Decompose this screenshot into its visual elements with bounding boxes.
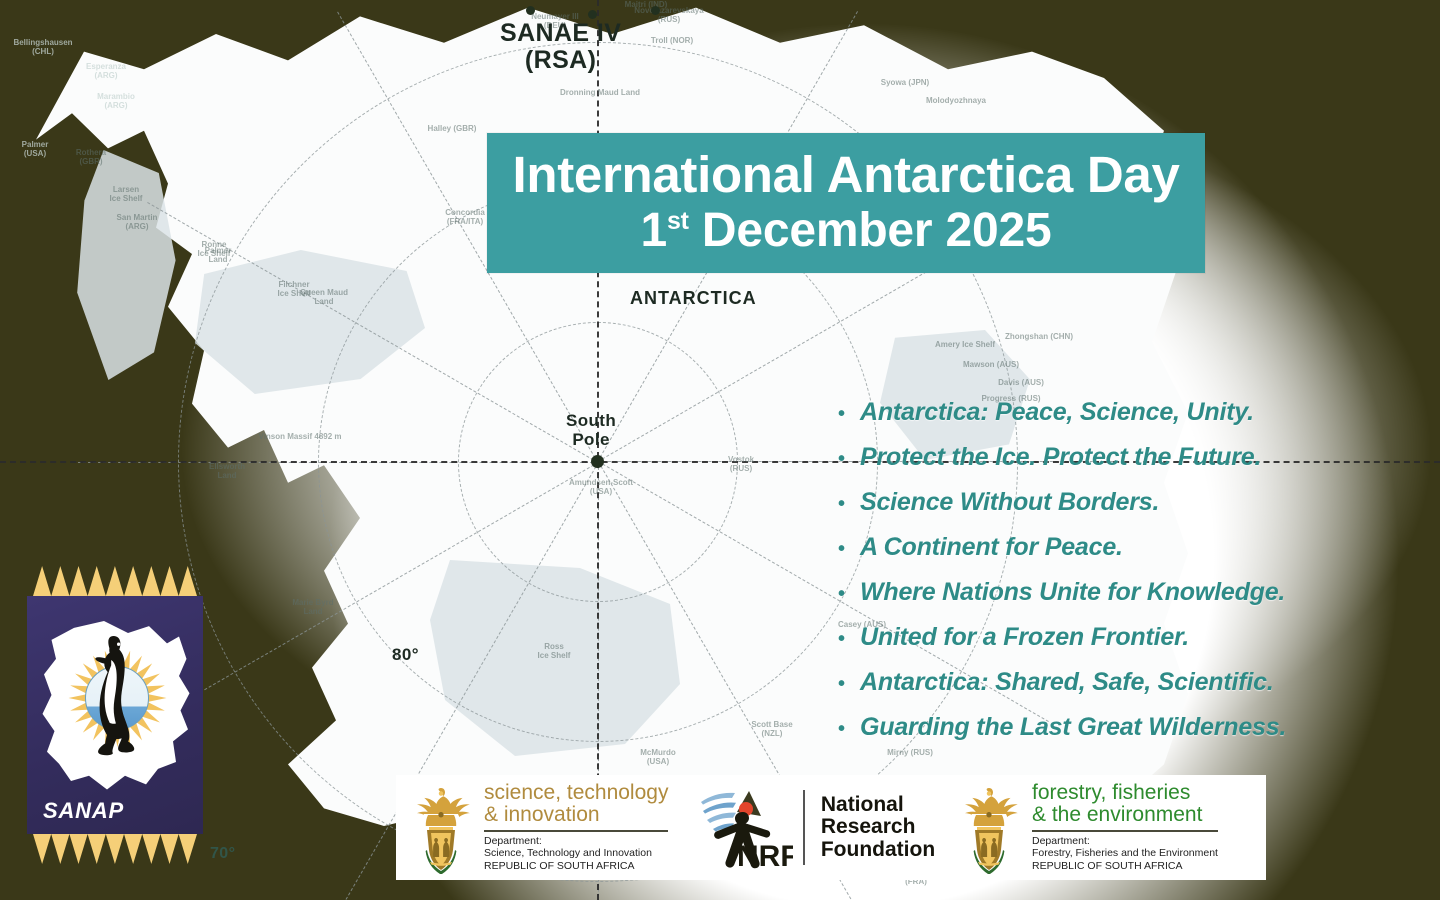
nrf-words: National Research Foundation — [821, 794, 935, 861]
date-rest: December 2025 — [689, 204, 1052, 257]
place-label: Scott Base (NZL) — [744, 720, 800, 738]
sanap-label: SANAP — [43, 798, 124, 824]
slogan-text: A Continent for Peace. — [860, 535, 1123, 560]
dsti-department-label: Department: — [484, 835, 668, 848]
bullet-icon: • — [838, 449, 860, 469]
place-label: Vostok (RUS) — [716, 455, 766, 473]
date-ordinal: st — [667, 207, 689, 235]
place-label: Vinson Massif 4892 m — [240, 432, 360, 441]
event-date: 1st December 2025 — [640, 204, 1051, 258]
map-label-latitude-70: 70° — [210, 845, 235, 863]
title-banner: International Antarctica Day 1st Decembe… — [487, 133, 1205, 273]
place-label: Ellsworth Land — [196, 462, 258, 480]
bullet-icon: • — [838, 539, 860, 559]
place-label: Maitri (IND) — [620, 0, 672, 9]
place-label: Troll (NOR) — [648, 36, 696, 45]
map-label-sanae: SANAE IV (RSA) — [500, 20, 621, 74]
place-label: Dronning Maud Land — [550, 88, 650, 97]
south-africa-coat-of-arms-icon — [952, 782, 1026, 874]
divider — [803, 790, 805, 865]
slogan-text: Guarding the Last Great Wilderness. — [860, 715, 1286, 740]
dffe-text-block: forestry, fisheries & the environment De… — [1032, 782, 1218, 873]
footer-logo-strip: science, technology & innovation Departm… — [396, 775, 1266, 880]
bullet-icon: • — [838, 404, 860, 424]
station-dot — [651, 6, 660, 15]
place-label: Davis (AUS) — [992, 378, 1050, 387]
dffe-department-name: Forestry, Fisheries and the Environment — [1032, 847, 1218, 860]
nrf-figure-icon: NRF — [697, 786, 793, 870]
list-item: •A Continent for Peace. — [838, 535, 1418, 560]
zigzag-border-top — [33, 566, 197, 596]
place-label: Marie Byrd Land — [282, 598, 344, 616]
place-label: Rothera (GBR) — [62, 148, 120, 166]
slogan-text: United for a Frozen Frontier. — [860, 625, 1189, 650]
dffe-department-label: Department: — [1032, 835, 1218, 848]
place-label: Esperanza (ARG) — [74, 62, 138, 80]
list-item: •Antarctica: Shared, Safe, Scientific. — [838, 670, 1418, 695]
place-label: Marambio (ARG) — [84, 92, 148, 110]
map-label-latitude-80: 80° — [392, 645, 419, 665]
bullet-icon: • — [838, 494, 860, 514]
slogan-text: Science Without Borders. — [860, 490, 1159, 515]
place-label: Molodyozhnaya — [920, 96, 992, 105]
station-dot — [588, 10, 597, 19]
list-item: •Antarctica: Peace, Science, Unity. — [838, 400, 1418, 425]
place-label: San Martin (ARG) — [106, 213, 168, 231]
dsti-department-name: Science, Technology and Innovation — [484, 847, 668, 860]
place-label: Palmer (USA) — [6, 140, 64, 158]
slogan-text: Antarctica: Peace, Science, Unity. — [860, 400, 1254, 425]
divider — [1032, 830, 1218, 832]
bullet-icon: • — [838, 674, 860, 694]
place-label: Palmer Land — [190, 246, 246, 264]
list-item: •Guarding the Last Great Wilderness. — [838, 715, 1418, 740]
antarctica-day-poster: Bellingshausen (CHL) Esperanza (ARG) Mar… — [0, 0, 1440, 900]
map-label-antarctica: ANTARCTICA — [630, 288, 757, 309]
south-africa-coat-of-arms-icon — [404, 782, 478, 874]
place-label: Halley (GBR) — [420, 124, 484, 133]
bullet-icon: • — [838, 629, 860, 649]
place-label: Larsen Ice Shelf — [95, 185, 157, 203]
sanap-logo: SANAP — [27, 566, 203, 865]
list-item: •United for a Frozen Frontier. — [838, 625, 1418, 650]
zigzag-border-bottom — [33, 834, 197, 864]
dsti-headline: science, technology & innovation — [484, 782, 668, 826]
place-label: Bellingshausen (CHL) — [4, 38, 82, 56]
page-title: International Antarctica Day — [512, 148, 1179, 202]
dsti-logo: science, technology & innovation Departm… — [396, 775, 688, 880]
place-label: Syowa (JPN) — [878, 78, 932, 87]
place-label: Ross Ice Shelf — [528, 642, 580, 660]
nrf-logo: NRF National Research Foundation — [688, 775, 944, 880]
place-label: Amundsen-Scott (USA) — [566, 478, 636, 496]
divider — [484, 830, 668, 832]
place-label: McMurdo (USA) — [630, 748, 686, 766]
slogan-list: •Antarctica: Peace, Science, Unity. •Pro… — [838, 400, 1418, 760]
slogan-text: Where Nations Unite for Knowledge. — [860, 580, 1285, 605]
dsti-text-block: science, technology & innovation Departm… — [484, 782, 668, 873]
list-item: •Science Without Borders. — [838, 490, 1418, 515]
place-label: Mawson (AUS) — [962, 360, 1020, 369]
slogan-text: Antarctica: Shared, Safe, Scientific. — [860, 670, 1274, 695]
date-day: 1 — [640, 204, 667, 257]
list-item: •Where Nations Unite for Knowledge. — [838, 580, 1418, 605]
dffe-country: REPUBLIC OF SOUTH AFRICA — [1032, 860, 1218, 873]
bullet-icon: • — [838, 584, 860, 604]
dffe-logo: forestry, fisheries & the environment De… — [944, 775, 1266, 880]
place-label: Queen Maud Land — [288, 288, 360, 306]
bullet-icon: • — [838, 719, 860, 739]
slogan-text: Protect the Ice. Protect the Future. — [860, 445, 1261, 470]
place-label: Zhongshan (CHN) — [1004, 332, 1074, 341]
place-label: Amery Ice Shelf — [930, 340, 1000, 349]
nrf-acronym: NRF — [737, 840, 793, 870]
station-dot — [526, 6, 535, 15]
list-item: •Protect the Ice. Protect the Future. — [838, 445, 1418, 470]
penguin-icon — [93, 634, 135, 764]
map-label-south-pole: South Pole — [566, 411, 616, 449]
dsti-country: REPUBLIC OF SOUTH AFRICA — [484, 860, 668, 873]
dffe-headline: forestry, fisheries & the environment — [1032, 782, 1218, 826]
